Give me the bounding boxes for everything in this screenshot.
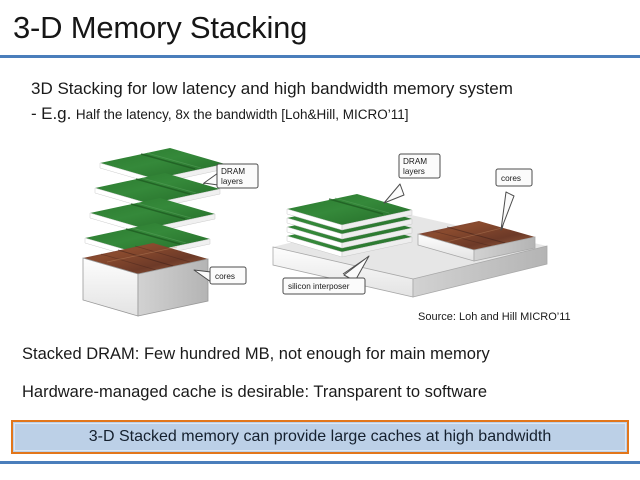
title-divider-rule bbox=[0, 55, 640, 58]
source-credit: Source: Loh and Hill MICRO’11 bbox=[418, 311, 571, 323]
label-interposer: silicon interposer bbox=[288, 282, 350, 291]
slide-canvas: 3-D Memory Stacking 3D Stacking for low … bbox=[0, 0, 640, 480]
bullet-sub-rest: Half the latency, 8x the bandwidth [Loh&… bbox=[76, 107, 409, 122]
dram-layer-stack-exploded bbox=[85, 148, 225, 259]
bullet-main-text: 3D Stacking for low latency and high ban… bbox=[31, 78, 513, 100]
takeaway-text: 3-D Stacked memory can provide large cac… bbox=[89, 428, 551, 446]
statement-stacked-dram: Stacked DRAM: Few hundred MB, not enough… bbox=[22, 345, 490, 364]
footer-divider-rule bbox=[0, 461, 640, 464]
memory-stacking-figure: DRAM layers cores bbox=[55, 140, 595, 320]
bullet-sub-line: - E.g. Half the latency, 8x the bandwidt… bbox=[31, 104, 409, 124]
label-cores-right: cores bbox=[496, 169, 532, 230]
label-cores: cores bbox=[215, 272, 235, 281]
label-dram-line1: DRAM bbox=[403, 157, 427, 166]
label-dram-line1: DRAM bbox=[221, 167, 245, 176]
page-title: 3-D Memory Stacking bbox=[13, 8, 307, 48]
statement-hardware-cache: Hardware-managed cache is desirable: Tra… bbox=[22, 383, 487, 402]
bullet-sub-dash: - bbox=[31, 104, 37, 123]
left-diagram-group: DRAM layers cores bbox=[83, 148, 258, 316]
cores-die-block bbox=[83, 243, 208, 316]
label-cores: cores bbox=[501, 174, 521, 183]
right-diagram-group: DRAM layers cores silicon interposer bbox=[273, 154, 547, 297]
takeaway-callout-box: 3-D Stacked memory can provide large cac… bbox=[11, 420, 629, 454]
label-dram-layers-right: DRAM layers bbox=[384, 154, 440, 203]
label-dram-line2: layers bbox=[221, 177, 243, 186]
bullet-sub-lead: E.g. bbox=[41, 104, 71, 123]
label-dram-line2: layers bbox=[403, 167, 425, 176]
